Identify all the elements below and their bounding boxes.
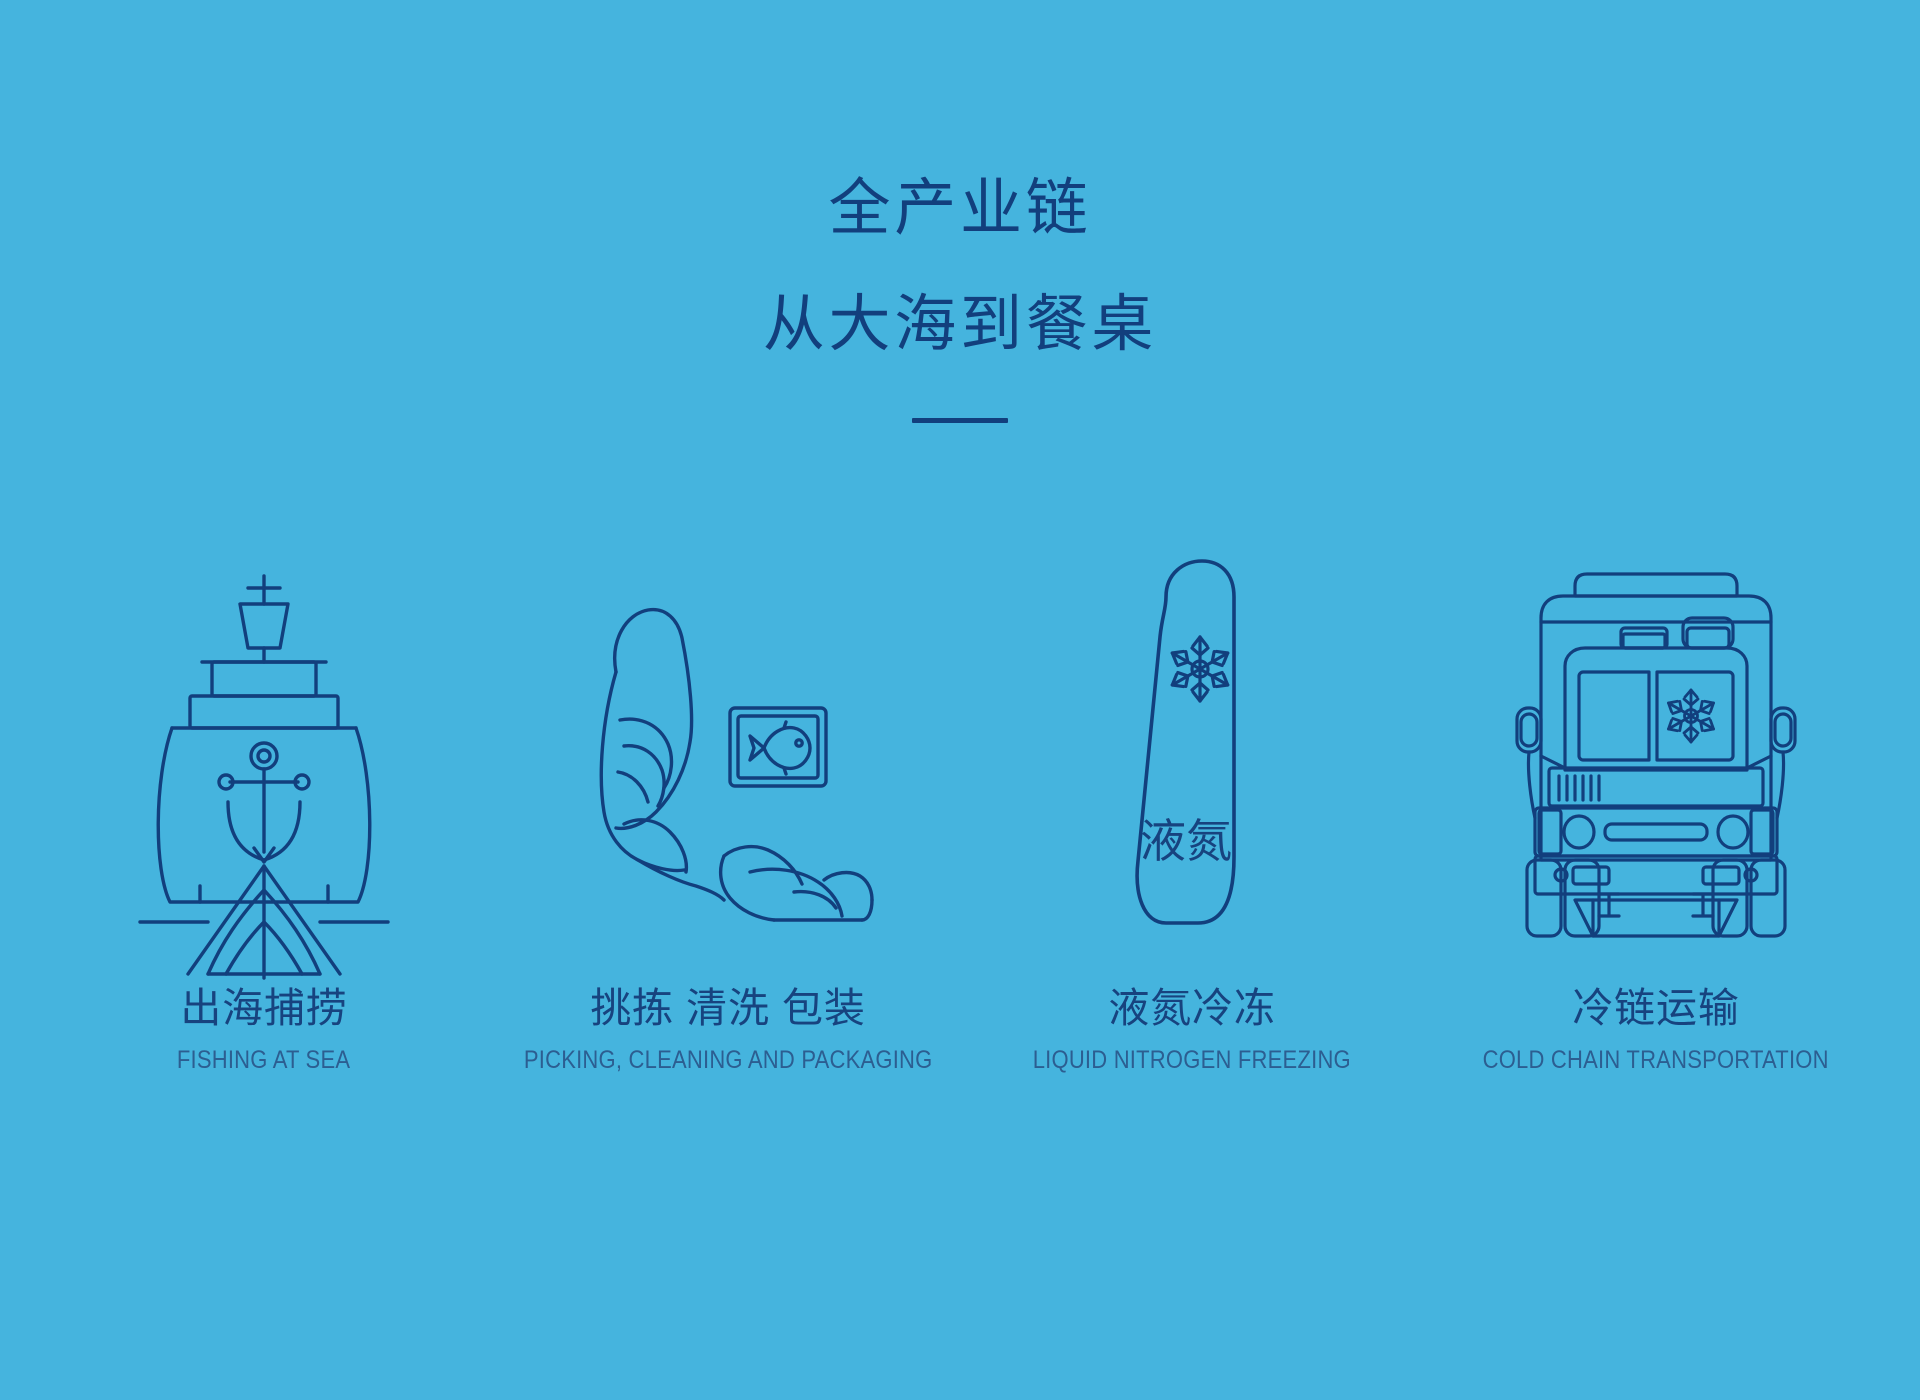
step-labels: 挑拣 清洗 包装 PICKING, CLEANING AND PACKAGING bbox=[496, 984, 960, 1075]
page-title-line-2: 从大海到餐桌 bbox=[0, 294, 1920, 356]
process-steps-row: 出海捕捞 FISHING AT SEA bbox=[0, 540, 1920, 1075]
step-label-cn: 出海捕捞 bbox=[165, 984, 362, 1033]
step-cold-chain-transportation: 冷链运输 COLD CHAIN TRANSPORTATION bbox=[1426, 540, 1886, 1075]
step-label-cn: 挑拣 清洗 包装 bbox=[496, 984, 960, 1033]
step-label-cn: 冷链运输 bbox=[1459, 984, 1852, 1033]
liquid-nitrogen-tank-icon: 液氮 bbox=[1122, 540, 1262, 960]
refrigerated-truck-icon bbox=[1513, 540, 1799, 960]
step-labels: 液氮冷冻 LIQUID NITROGEN FREEZING bbox=[1011, 984, 1373, 1075]
tank-label-text: 液氮 bbox=[1140, 815, 1232, 867]
poster-canvas: 全产业链 从大海到餐桌 bbox=[0, 0, 1920, 1400]
step-labels: 冷链运输 COLD CHAIN TRANSPORTATION bbox=[1459, 984, 1852, 1075]
page-title-block: 全产业链 从大海到餐桌 bbox=[0, 178, 1920, 423]
step-liquid-nitrogen-freezing: 液氮 液氮冷冻 LIQUID NITROGEN FREEZING bbox=[962, 540, 1422, 1075]
step-label-en: PICKING, CLEANING AND PACKAGING bbox=[524, 1045, 933, 1075]
step-picking-cleaning-packaging: 挑拣 清洗 包装 PICKING, CLEANING AND PACKAGING bbox=[498, 540, 958, 1075]
step-label-cn: 液氮冷冻 bbox=[1011, 984, 1373, 1033]
step-label-en: LIQUID NITROGEN FREEZING bbox=[1033, 1045, 1351, 1075]
hands-fish-package-icon bbox=[578, 540, 878, 960]
step-fishing-at-sea: 出海捕捞 FISHING AT SEA bbox=[34, 540, 494, 1075]
fishing-boat-icon bbox=[144, 540, 384, 960]
page-title-line-1: 全产业链 bbox=[0, 178, 1920, 240]
step-labels: 出海捕捞 FISHING AT SEA bbox=[165, 984, 362, 1075]
step-label-en: COLD CHAIN TRANSPORTATION bbox=[1483, 1045, 1829, 1075]
step-label-en: FISHING AT SEA bbox=[177, 1045, 350, 1075]
title-divider bbox=[912, 418, 1008, 423]
